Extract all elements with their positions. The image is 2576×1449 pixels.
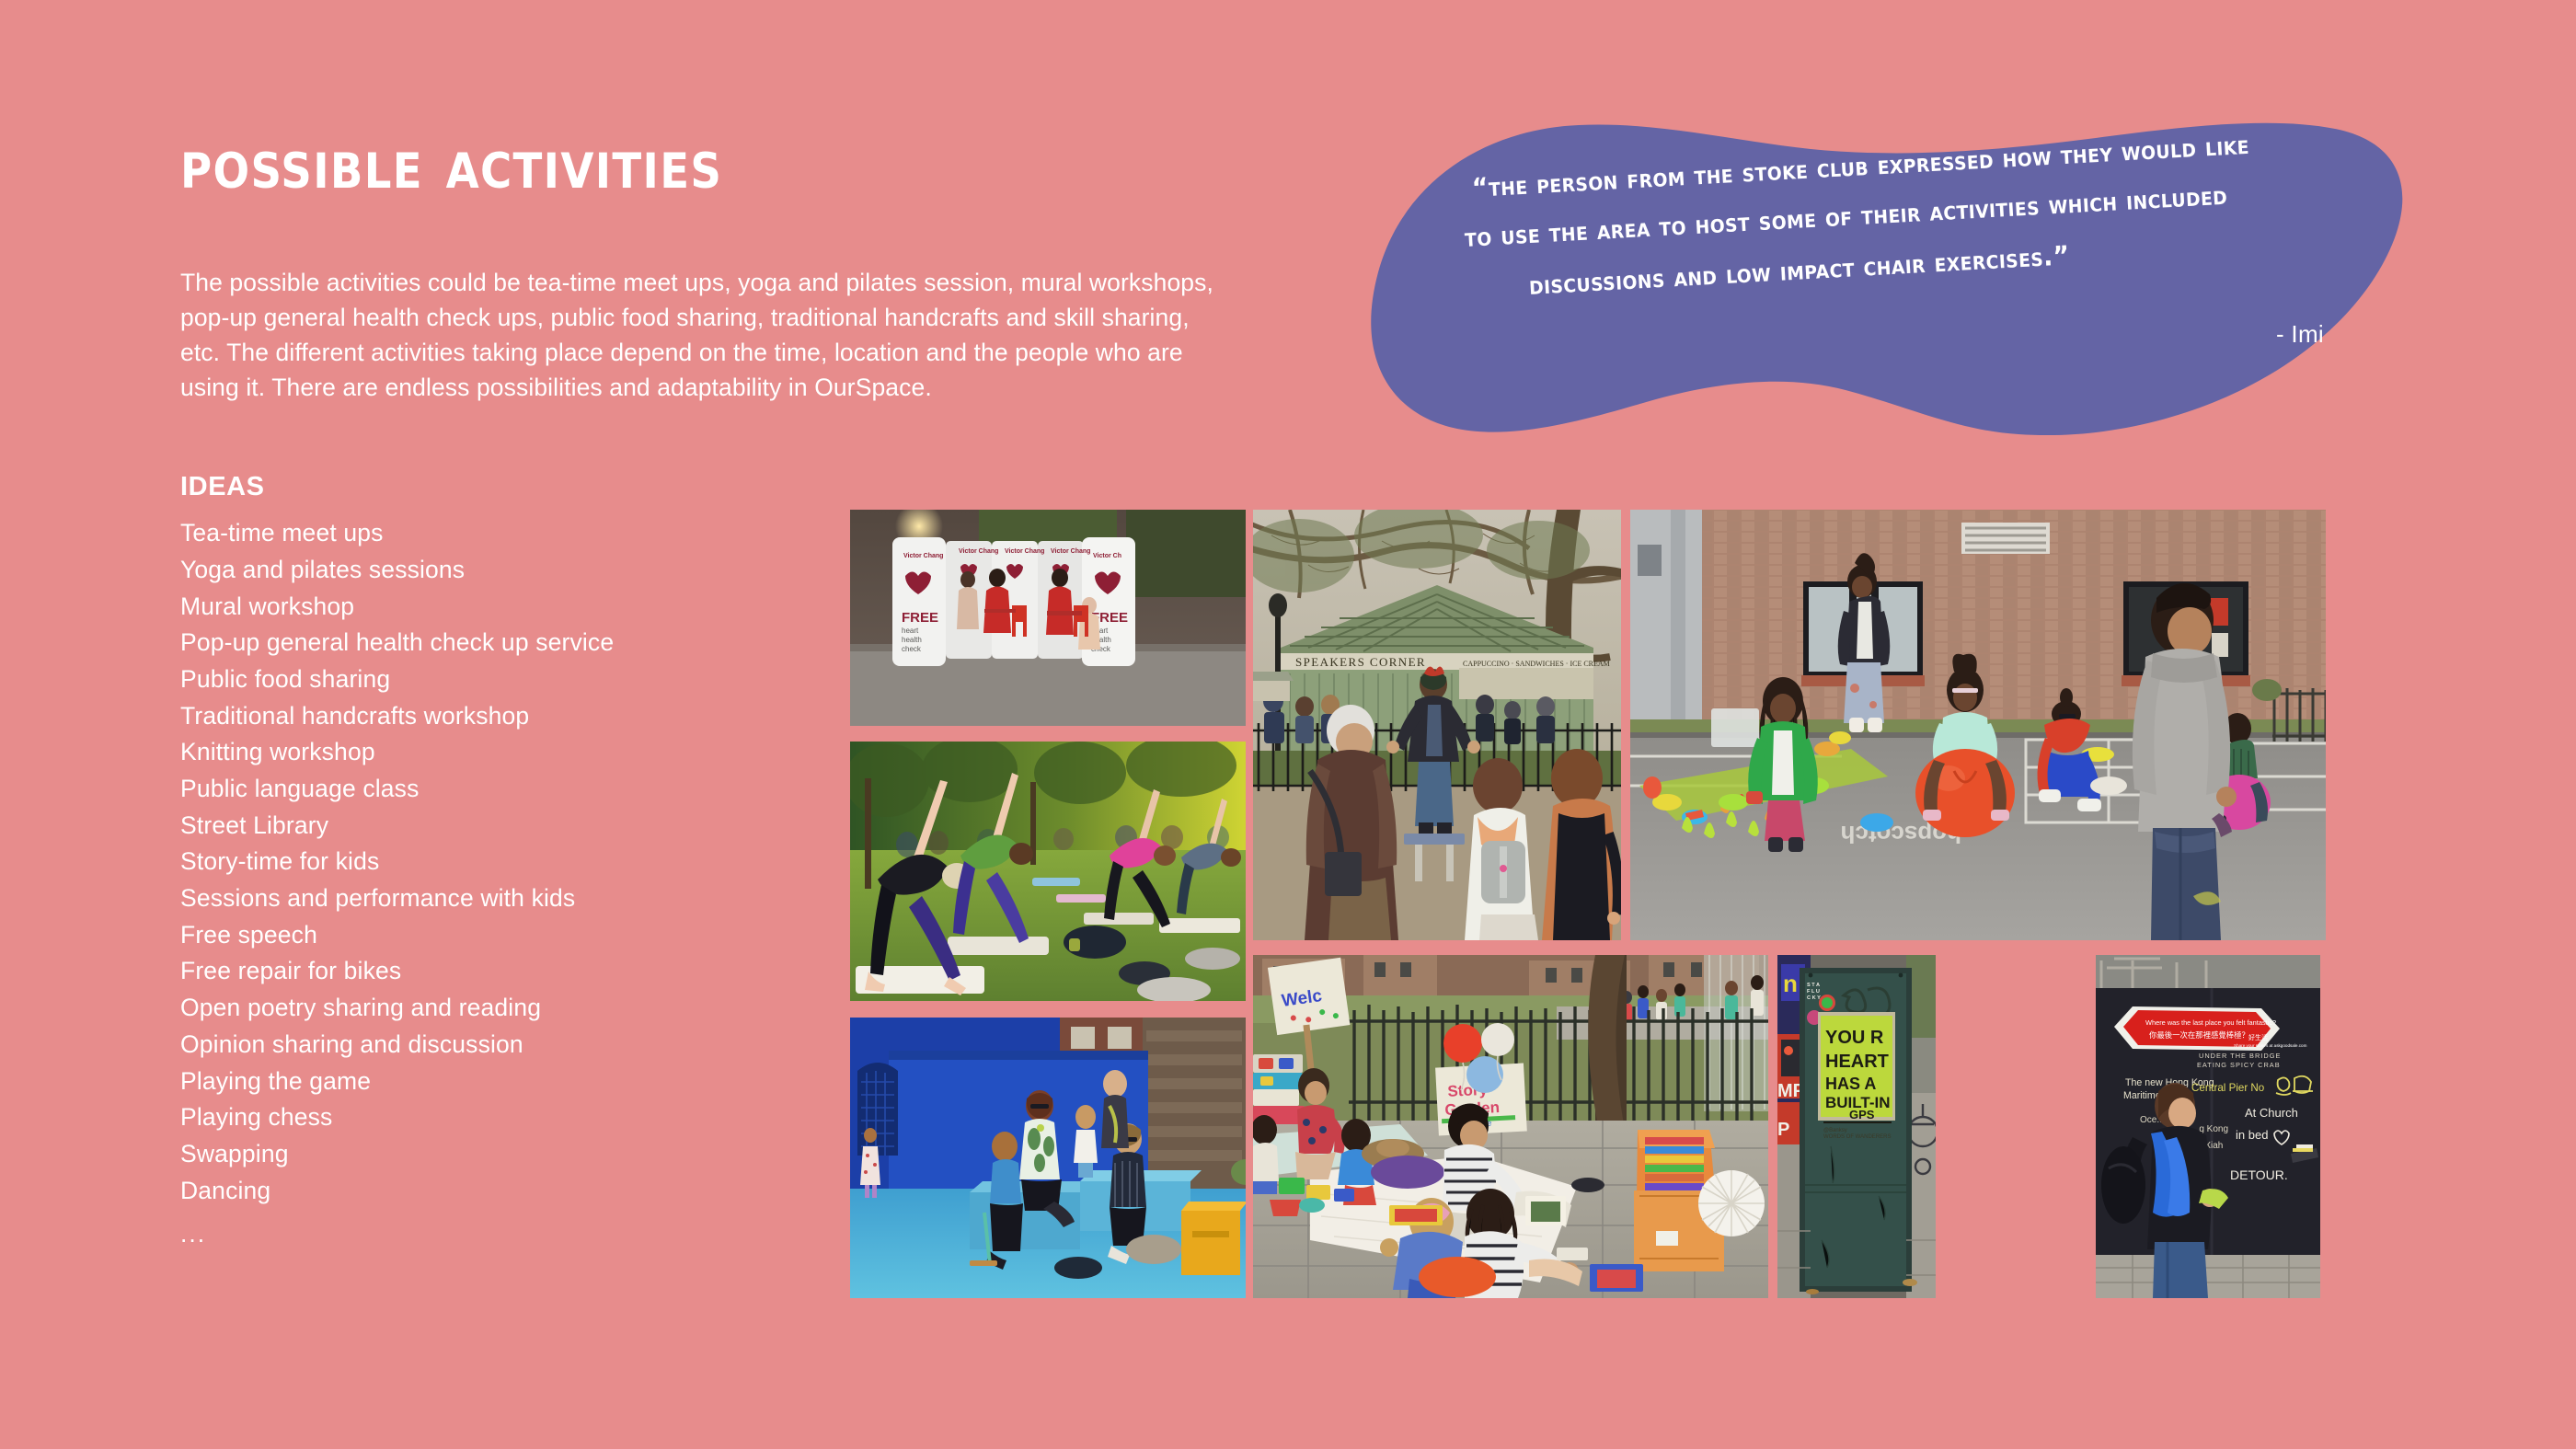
quote-attribution: - Imi bbox=[2276, 320, 2324, 349]
svg-text:HEART: HEART bbox=[1825, 1052, 1889, 1072]
svg-text:Where was the last place you f: Where was the last place you felt fantas… bbox=[2145, 1018, 2276, 1027]
svg-text:in bed: in bed bbox=[2236, 1128, 2268, 1142]
svg-text:Victor Ch: Victor Ch bbox=[1093, 553, 1121, 559]
svg-text:C K Y: C K Y bbox=[1807, 995, 1821, 1001]
svg-text:At Church: At Church bbox=[2245, 1106, 2298, 1120]
intro-paragraph: The possible activities could be tea-tim… bbox=[180, 265, 1234, 406]
photo-health-check-booth: Victor Chang Victor Chang Victor Chang V… bbox=[850, 510, 1246, 726]
svg-text:@Banksy: @Banksy bbox=[1823, 1128, 1847, 1133]
photo-street-poster: n MP P S T AF bbox=[1777, 955, 1936, 1298]
quote-line-3: discussions and low impact chair exercis… bbox=[1528, 240, 2070, 301]
ideas-heading: IDEAS bbox=[180, 472, 1257, 502]
svg-text:P: P bbox=[1777, 1120, 1789, 1140]
svg-text:FREE: FREE bbox=[902, 610, 938, 626]
photo-outdoor-yoga bbox=[850, 742, 1246, 1001]
svg-text:SPEAKERS CORNER: SPEAKERS CORNER bbox=[1295, 655, 1426, 669]
photo-blue-playground bbox=[850, 1018, 1246, 1298]
quote-callout: “The person from the Stoke Club expresse… bbox=[1351, 110, 2418, 442]
svg-text:Victor Chang: Victor Chang bbox=[959, 548, 998, 555]
photo-children-playing: hopscotch bbox=[1630, 510, 2326, 940]
photo-chalkboard-wall: Where was the last place you felt fantas… bbox=[2096, 955, 2320, 1298]
svg-text:Victor Chang: Victor Chang bbox=[1051, 548, 1090, 555]
svg-text:F L U: F L U bbox=[1807, 989, 1820, 995]
svg-text:CAPPUCCINO · SANDWICHES · ICE: CAPPUCCINO · SANDWICHES · ICE CREAM bbox=[1463, 660, 1610, 668]
page-title: Possible activities bbox=[180, 129, 1128, 199]
svg-text:health: health bbox=[902, 636, 922, 644]
svg-text:heart: heart bbox=[902, 627, 919, 635]
svg-text:Share your stories at askgoods: Share your stories at askgoodsale.com bbox=[2234, 1043, 2307, 1048]
svg-text:WORDS OF WANDERERS: WORDS OF WANDERERS bbox=[1823, 1134, 1891, 1140]
svg-text:UNDER THE BRIDGE: UNDER THE BRIDGE bbox=[2199, 1052, 2281, 1060]
svg-text:HAS A: HAS A bbox=[1825, 1075, 1876, 1093]
svg-text:你最後一次在那裡感覺棒極？: 你最後一次在那裡感覺棒極？ bbox=[2149, 1030, 2249, 1040]
svg-text:Victor Chang: Victor Chang bbox=[903, 553, 943, 559]
svg-text:Central Pier No: Central Pier No bbox=[2191, 1082, 2264, 1094]
quote-text-block: “The person from the Stoke Club expresse… bbox=[1461, 156, 2344, 396]
svg-text:GPS: GPS bbox=[1849, 1108, 1875, 1121]
svg-text:n: n bbox=[1783, 970, 1798, 997]
svg-text:S T A: S T A bbox=[1807, 983, 1820, 988]
photo-speakers-corner: SPEAKERS CORNER CAPPUCCINO · SANDWICHES … bbox=[1253, 510, 1621, 940]
svg-text:YOU R: YOU R bbox=[1825, 1028, 1884, 1048]
svg-text:EATING SPICY CRAB: EATING SPICY CRAB bbox=[2197, 1061, 2281, 1069]
svg-text:check: check bbox=[902, 645, 922, 653]
svg-text:DETOUR.: DETOUR. bbox=[2230, 1167, 2288, 1182]
svg-text:Victor Chang: Victor Chang bbox=[1005, 548, 1044, 555]
svg-text:好生活: 好生活 bbox=[2248, 1033, 2268, 1041]
photo-story-garden: Welc Stor bbox=[1253, 955, 1768, 1298]
